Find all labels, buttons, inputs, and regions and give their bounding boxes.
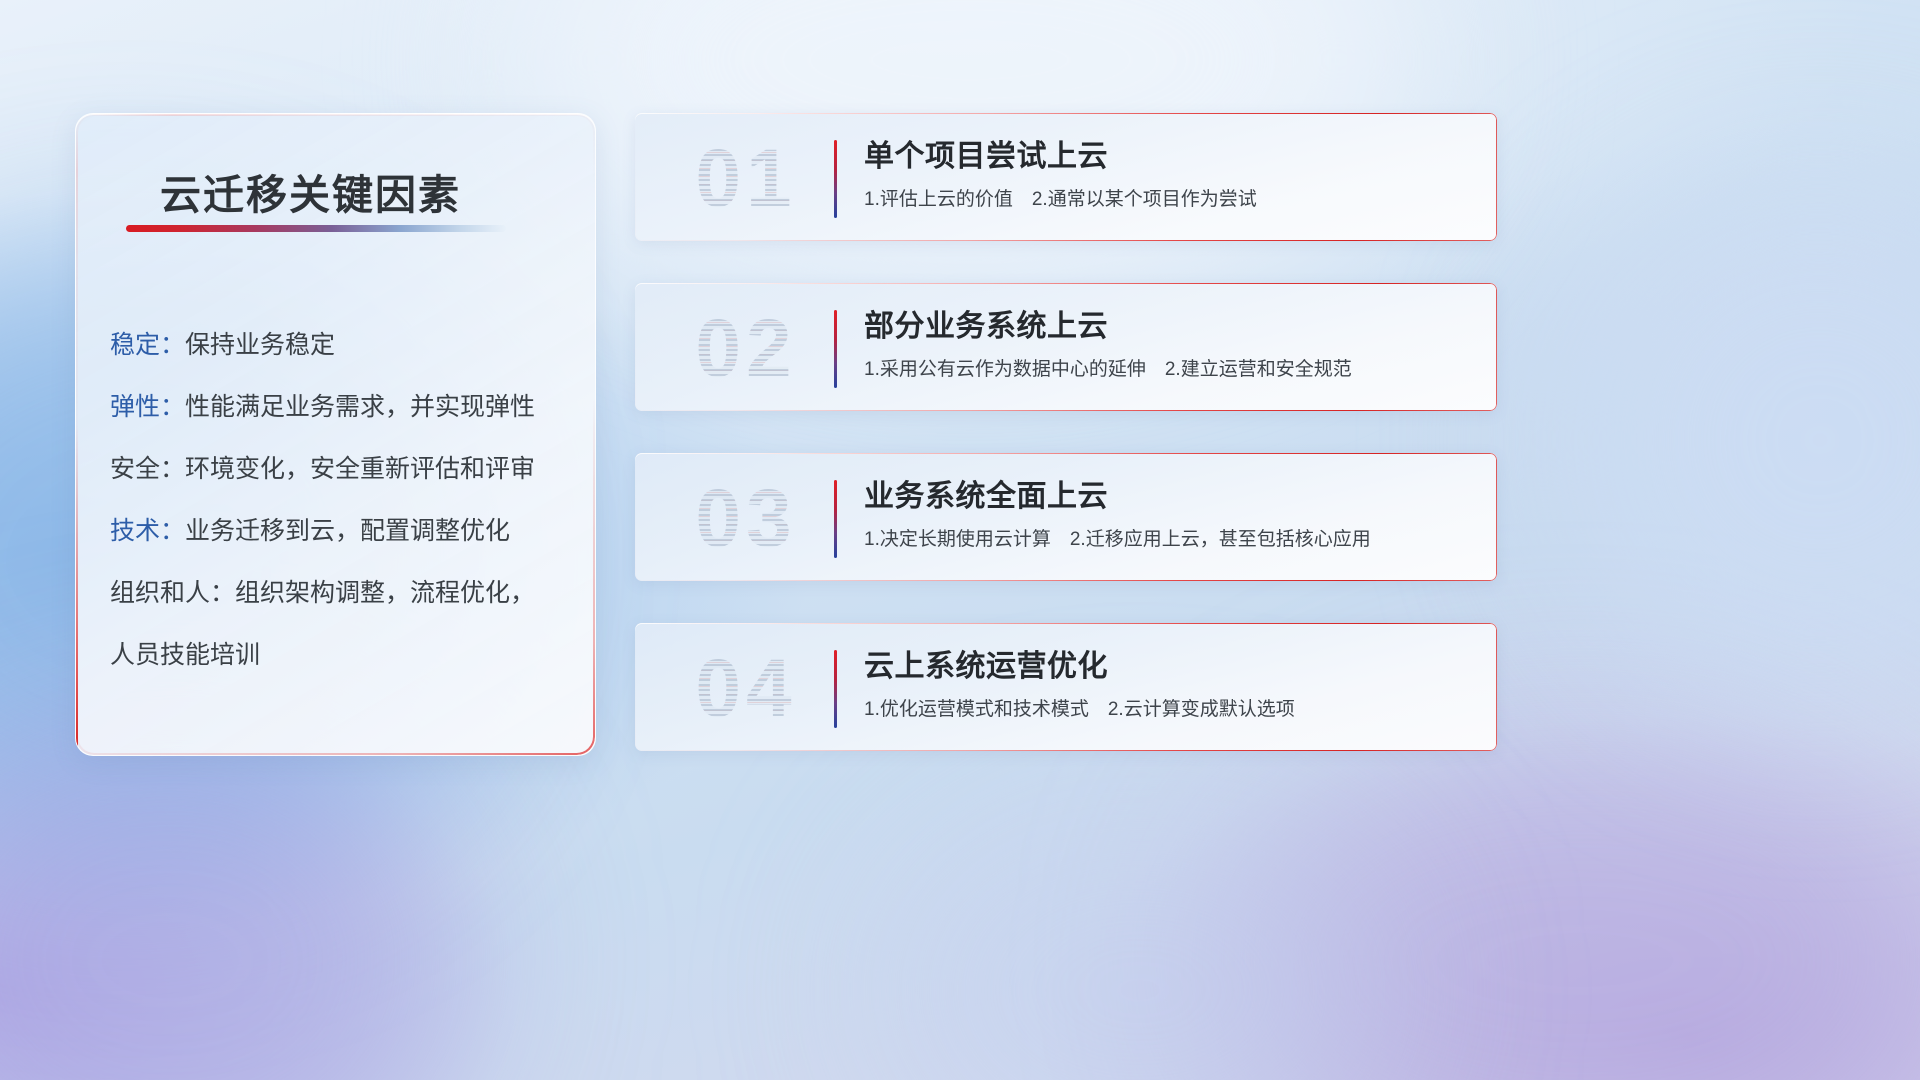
factor-text: 性能满足业务需求，并实现弹性 <box>185 393 535 421</box>
stage-card-01[interactable]: 0101单个项目尝试上云1.评估上云的价值 2.通常以某个项目作为尝试 <box>635 113 1497 241</box>
stage-title: 部分业务系统上云 <box>864 305 1479 349</box>
factor-text: 业务迁移到云，配置调整优化 <box>185 517 510 545</box>
slide-canvas: 云迁移关键因素 稳定：保持业务稳定弹性：性能满足业务需求，并实现弹性安全：环境变… <box>0 0 1920 1080</box>
factor-label: 技术： <box>110 517 185 545</box>
stage-description: 1.采用公有云作为数据中心的延伸 2.建立运营和安全规范 <box>864 357 1479 383</box>
factor-label: 安全： <box>110 455 185 483</box>
stage-number: 01 <box>661 129 831 229</box>
background-blob-bottom-center <box>880 800 1400 1080</box>
factor-row: 弹性：性能满足业务需求，并实现弹性 <box>110 376 580 438</box>
factor-row: 安全：环境变化，安全重新评估和评审 <box>110 438 580 500</box>
panel-title: 云迁移关键因素 <box>160 161 461 221</box>
stage-card-02[interactable]: 0202部分业务系统上云1.采用公有云作为数据中心的延伸 2.建立运营和安全规范 <box>635 283 1497 411</box>
stage-card-body: 单个项目尝试上云1.评估上云的价值 2.通常以某个项目作为尝试 <box>864 135 1479 213</box>
title-underline-rule <box>126 225 506 232</box>
factor-row: 组织和人：组织架构调整，流程优化， <box>110 562 580 624</box>
factor-text: 人员技能培训 <box>110 641 260 669</box>
factor-list: 稳定：保持业务稳定弹性：性能满足业务需求，并实现弹性安全：环境变化，安全重新评估… <box>110 314 580 686</box>
stage-card-body: 部分业务系统上云1.采用公有云作为数据中心的延伸 2.建立运营和安全规范 <box>864 305 1479 383</box>
migration-stage-cards: 0101单个项目尝试上云1.评估上云的价值 2.通常以某个项目作为尝试0202部… <box>635 113 1497 793</box>
stage-description: 1.评估上云的价值 2.通常以某个项目作为尝试 <box>864 187 1479 213</box>
stage-number: 02 <box>661 299 831 399</box>
stage-card-04[interactable]: 0404云上系统运营优化1.优化运营模式和技术模式 2.云计算变成默认选项 <box>635 623 1497 751</box>
stage-title: 单个项目尝试上云 <box>864 135 1479 179</box>
stage-number: 03 <box>661 469 831 569</box>
stage-accent-bar <box>834 480 837 558</box>
factor-label: 稳定： <box>110 331 185 359</box>
background-blob-lower-left <box>0 700 480 1080</box>
stage-card-03[interactable]: 0303业务系统全面上云1.决定长期使用云计算 2.迁移应用上云，甚至包括核心应… <box>635 453 1497 581</box>
factor-text: 组织架构调整，流程优化， <box>235 579 535 607</box>
stage-description: 1.优化运营模式和技术模式 2.云计算变成默认选项 <box>864 697 1479 723</box>
stage-card-body: 云上系统运营优化1.优化运营模式和技术模式 2.云计算变成默认选项 <box>864 645 1479 723</box>
key-factors-panel: 云迁移关键因素 稳定：保持业务稳定弹性：性能满足业务需求，并实现弹性安全：环境变… <box>75 113 596 756</box>
factor-text: 环境变化，安全重新评估和评审 <box>185 455 535 483</box>
stage-title: 云上系统运营优化 <box>864 645 1479 689</box>
factor-label: 组织和人： <box>110 579 235 607</box>
stage-card-body: 业务系统全面上云1.决定长期使用云计算 2.迁移应用上云，甚至包括核心应用 <box>864 475 1479 553</box>
factor-label: 弹性： <box>110 393 185 421</box>
stage-description: 1.决定长期使用云计算 2.迁移应用上云，甚至包括核心应用 <box>864 527 1479 553</box>
factor-row: 稳定：保持业务稳定 <box>110 314 580 376</box>
background-blob-right <box>1560 180 1920 700</box>
stage-title: 业务系统全面上云 <box>864 475 1479 519</box>
factor-row: 人员技能培训 <box>110 624 580 686</box>
factor-text: 保持业务稳定 <box>185 331 335 359</box>
factor-row: 技术：业务迁移到云，配置调整优化 <box>110 500 580 562</box>
stage-number: 04 <box>661 639 831 739</box>
stage-accent-bar <box>834 310 837 388</box>
stage-accent-bar <box>834 650 837 728</box>
stage-accent-bar <box>834 140 837 218</box>
